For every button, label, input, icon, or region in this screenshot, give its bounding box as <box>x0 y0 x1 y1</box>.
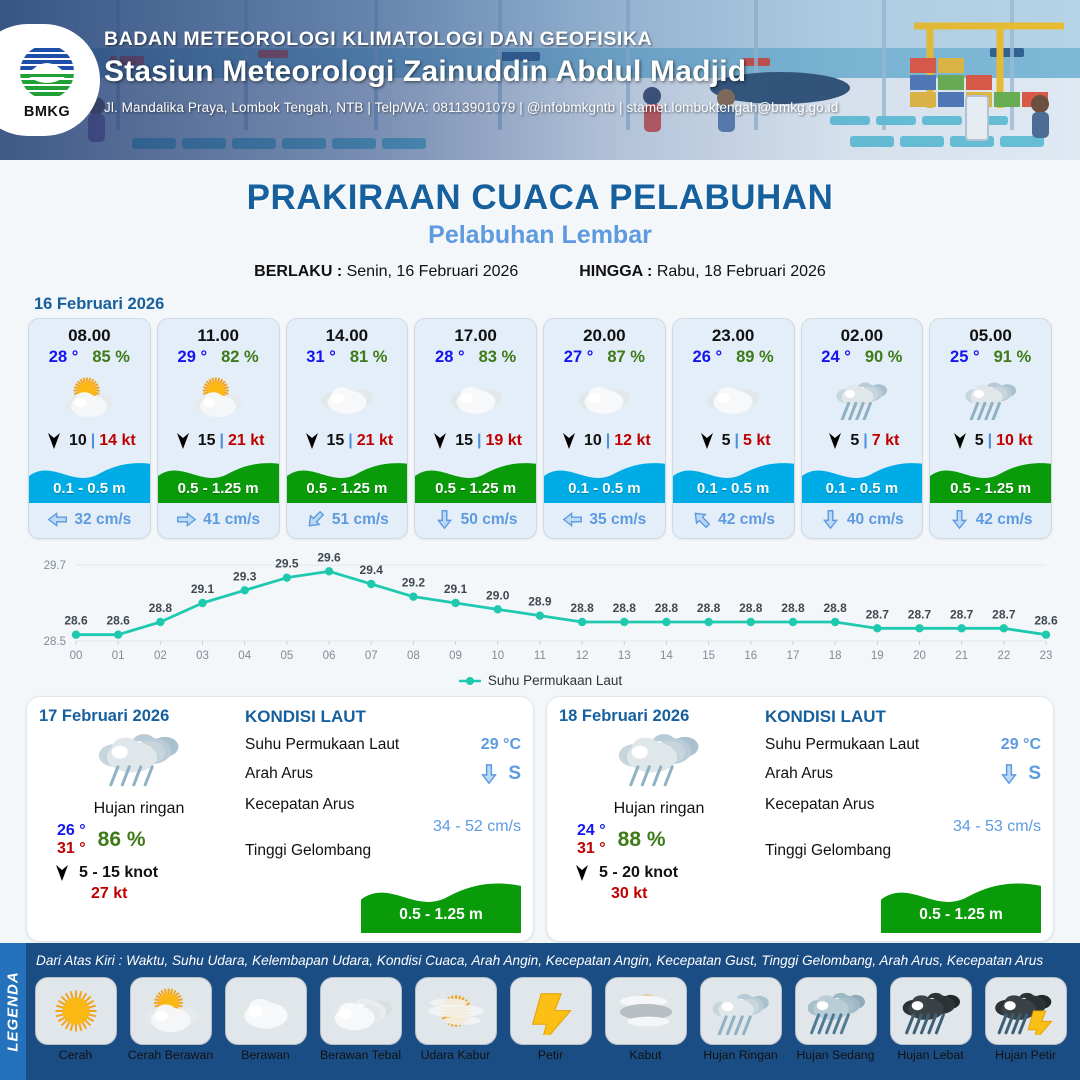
card-wind-speed: 15 <box>327 432 345 450</box>
sst-label: Suhu Permukaan Laut <box>245 736 399 754</box>
berawan-icon <box>448 376 504 420</box>
card-time: 02.00 <box>802 319 923 348</box>
daily-temp-min: 26 ° <box>57 822 86 840</box>
wind-direction-icon <box>949 432 971 450</box>
cerah-berawan-icon <box>190 376 246 420</box>
page-title: PRAKIRAAN CUACA PELABUHAN <box>0 178 1080 218</box>
svg-text:08: 08 <box>407 650 420 662</box>
card-weather-icon <box>158 369 279 427</box>
current-direction-icon <box>562 509 583 530</box>
card-time: 11.00 <box>158 319 279 348</box>
card-humidity: 91 % <box>994 348 1032 367</box>
card-wind: 10 | 14 kt <box>29 427 150 453</box>
card-temperature: 29 ° <box>178 348 208 367</box>
daily-wind-gust: 27 kt <box>39 885 239 903</box>
legend-item-icon <box>415 977 497 1045</box>
svg-text:28.8: 28.8 <box>570 601 594 615</box>
card-wave-height: 0.1 - 0.5 m <box>802 480 923 497</box>
daily-wind: 5 - 20 knot <box>559 864 759 882</box>
current-direction-icon <box>434 509 455 530</box>
valid-from-value: Senin, 16 Februari 2026 <box>347 263 519 280</box>
card-wave: 0.5 - 1.25 m <box>930 453 1051 503</box>
card-time: 17.00 <box>415 319 536 348</box>
card-wind-gust: 10 kt <box>996 432 1032 450</box>
svg-text:18: 18 <box>829 650 842 662</box>
card-wave-height: 0.5 - 1.25 m <box>287 480 408 497</box>
svg-text:29.1: 29.1 <box>191 582 215 596</box>
sst-chart-svg: 28.529.700010203040506070809101112131415… <box>18 553 1062 671</box>
card-wave-height: 0.5 - 1.25 m <box>158 480 279 497</box>
bmkg-logo-text: BMKG <box>24 104 70 120</box>
legend-item: Hujan Petir <box>980 977 1071 1062</box>
svg-text:20: 20 <box>913 650 926 662</box>
card-current: 41 cm/s <box>158 503 279 538</box>
svg-text:01: 01 <box>112 650 125 662</box>
card-wind: 5 | 5 kt <box>673 427 794 453</box>
kabut-icon <box>615 987 677 1035</box>
svg-text:02: 02 <box>154 650 167 662</box>
chart-legend-marker <box>458 676 482 686</box>
valid-until-value: Rabu, 18 Februari 2026 <box>657 263 826 280</box>
cerah-berawan-icon <box>140 987 202 1035</box>
card-weather-icon <box>544 369 665 427</box>
card-weather-icon <box>802 369 923 427</box>
svg-text:22: 22 <box>997 650 1010 662</box>
chart-legend: Suhu Permukaan Laut <box>0 673 1080 688</box>
card-time: 20.00 <box>544 319 665 348</box>
sst-value: 29 °C <box>1001 736 1041 754</box>
card-current-speed: 51 cm/s <box>332 511 389 529</box>
sea-conditions-title: KONDISI LAUT <box>245 707 521 727</box>
valid-until-label: HINGGA : <box>579 263 652 280</box>
legend-item: Cerah <box>30 977 121 1062</box>
card-wind: 15 | 19 kt <box>415 427 536 453</box>
agency-name: BADAN METEOROLOGI KLIMATOLOGI DAN GEOFIS… <box>104 28 1070 51</box>
daily-temp-max: 31 ° <box>57 840 86 858</box>
card-wind-gust: 21 kt <box>228 432 264 450</box>
legend-item: Hujan Lebat <box>885 977 976 1062</box>
legend-tab: LEGENDA <box>0 943 26 1080</box>
legend-item-icon <box>35 977 117 1045</box>
hourly-card[interactable]: 14.00 31 ° 81 % 15 | 21 kt 0.5 - 1.25 m <box>286 318 409 539</box>
daily-weather-icon <box>559 724 759 798</box>
svg-text:29.2: 29.2 <box>402 576 426 590</box>
hourly-card[interactable]: 02.00 24 ° 90 % 5 | 7 kt 0.1 - 0.5 m <box>801 318 924 539</box>
svg-text:28.8: 28.8 <box>149 601 173 615</box>
legend-strip: LEGENDA Dari Atas Kiri : Waktu, Suhu Uda… <box>0 943 1080 1080</box>
sst-chart: 28.529.700010203040506070809101112131415… <box>18 553 1062 671</box>
card-wave: 0.5 - 1.25 m <box>415 453 536 503</box>
card-weather-icon <box>930 369 1051 427</box>
daily-weather-icon <box>39 724 239 798</box>
svg-text:03: 03 <box>196 650 209 662</box>
card-time: 14.00 <box>287 319 408 348</box>
svg-text:29.3: 29.3 <box>233 569 257 583</box>
card-wind-speed: 5 <box>975 432 984 450</box>
daily-temps: 24 ° 31 ° 88 % <box>559 822 759 858</box>
card-wind-separator: | <box>91 432 95 450</box>
card-current-speed: 32 cm/s <box>74 511 131 529</box>
wind-direction-icon <box>696 432 718 450</box>
card-wave: 0.1 - 0.5 m <box>802 453 923 503</box>
card-time: 08.00 <box>29 319 150 348</box>
svg-text:17: 17 <box>787 650 800 662</box>
udara-kabur-icon <box>425 987 487 1035</box>
card-humidity: 90 % <box>865 348 903 367</box>
svg-text:12: 12 <box>576 650 589 662</box>
legend-note: Dari Atas Kiri : Waktu, Suhu Udara, Kele… <box>36 953 1043 968</box>
svg-text:28.8: 28.8 <box>781 601 805 615</box>
card-humidity: 81 % <box>350 348 388 367</box>
wind-direction-icon <box>558 432 580 450</box>
card-temperature: 26 ° <box>693 348 723 367</box>
card-current-speed: 35 cm/s <box>589 511 646 529</box>
svg-text:28.8: 28.8 <box>697 601 721 615</box>
card-wave: 0.1 - 0.5 m <box>544 453 665 503</box>
station-contact: Jl. Mandalika Praya, Lombok Tengah, NTB … <box>104 100 1070 115</box>
daily-temp-min: 24 ° <box>577 822 606 840</box>
card-wind: 15 | 21 kt <box>158 427 279 453</box>
card-wind-gust: 19 kt <box>486 432 522 450</box>
daily-condition: Hujan ringan <box>559 800 759 818</box>
legend-item-label: Hujan Ringan <box>703 1048 778 1062</box>
card-weather-icon <box>29 369 150 427</box>
sea-conditions-title: KONDISI LAUT <box>765 707 1041 727</box>
current-direction-icon <box>691 509 712 530</box>
svg-text:28.8: 28.8 <box>655 601 679 615</box>
svg-text:29.4: 29.4 <box>360 563 384 577</box>
hourly-card[interactable]: 20.00 27 ° 87 % 10 | 12 kt 0.1 - 0.5 m <box>543 318 666 539</box>
svg-text:29.7: 29.7 <box>44 560 66 572</box>
card-temperature: 31 ° <box>306 348 336 367</box>
title-block: PRAKIRAAN CUACA PELABUHAN Pelabuhan Lemb… <box>0 160 1080 281</box>
daily-sea-conditions: KONDISI LAUT Suhu Permukaan Laut 29 °C A… <box>759 707 1041 933</box>
card-wave: 0.5 - 1.25 m <box>287 453 408 503</box>
daily-wind: 5 - 15 knot <box>39 864 239 882</box>
card-humidity: 83 % <box>479 348 517 367</box>
card-wave-height: 0.1 - 0.5 m <box>544 480 665 497</box>
card-temperature: 24 ° <box>821 348 851 367</box>
berawan-icon <box>705 376 761 420</box>
berawan-icon <box>319 376 375 420</box>
cerah-icon <box>45 987 107 1035</box>
daily-wave: 0.5 - 1.25 m <box>361 871 521 933</box>
svg-text:28.6: 28.6 <box>1034 614 1058 628</box>
card-humidity: 89 % <box>736 348 774 367</box>
hujan-ringan-icon <box>834 376 890 420</box>
berawan-tebal-icon <box>330 987 392 1035</box>
card-wave: 0.1 - 0.5 m <box>29 453 150 503</box>
card-wind-separator: | <box>220 432 224 450</box>
page-subtitle: Pelabuhan Lembar <box>0 221 1080 250</box>
wave-height-label: Tinggi Gelombang <box>765 842 891 860</box>
legend-item-icon <box>795 977 877 1045</box>
petir-icon <box>520 987 582 1035</box>
wind-direction-icon <box>172 432 194 450</box>
card-humidity: 87 % <box>607 348 645 367</box>
svg-text:29.1: 29.1 <box>444 582 468 596</box>
card-wind-gust: 14 kt <box>99 432 135 450</box>
svg-text:28.7: 28.7 <box>950 607 974 621</box>
daily-forecast-row: 17 Februari 2026 Hujan ringan 26 ° 31 ° … <box>0 688 1080 942</box>
svg-text:19: 19 <box>871 650 884 662</box>
svg-text:11: 11 <box>534 650 546 662</box>
card-wind: 15 | 21 kt <box>287 427 408 453</box>
card-weather-icon <box>287 369 408 427</box>
svg-text:28.7: 28.7 <box>908 607 932 621</box>
card-wave: 0.5 - 1.25 m <box>158 453 279 503</box>
sst-value: 29 °C <box>481 736 521 754</box>
svg-text:29.0: 29.0 <box>486 588 510 602</box>
legend-item-label: Berawan <box>241 1048 290 1062</box>
card-wave-height: 0.5 - 1.25 m <box>415 480 536 497</box>
current-direction-icon <box>176 509 197 530</box>
card-wind-gust: 21 kt <box>357 432 393 450</box>
hourly-date-label: 16 Februari 2026 <box>34 295 1080 314</box>
card-wave-height: 0.5 - 1.25 m <box>930 480 1051 497</box>
current-direction-value: S <box>998 763 1041 785</box>
current-direction-icon <box>998 763 1020 785</box>
card-time: 05.00 <box>930 319 1051 348</box>
daily-left: 18 Februari 2026 Hujan ringan 24 ° 31 ° … <box>559 707 759 933</box>
legend-item-label: Udara Kabur <box>421 1048 491 1062</box>
card-wind-gust: 7 kt <box>872 432 900 450</box>
legend-item-label: Cerah <box>59 1048 93 1062</box>
hourly-card[interactable]: 17.00 28 ° 83 % 15 | 19 kt 0.5 - 1.25 m <box>414 318 537 539</box>
hujan-petir-icon <box>995 987 1057 1035</box>
card-time: 23.00 <box>673 319 794 348</box>
hourly-card[interactable]: 23.00 26 ° 89 % 5 | 5 kt 0.1 - 0.5 m <box>672 318 795 539</box>
bmkg-logo-icon <box>16 41 78 103</box>
legend-item-icon <box>225 977 307 1045</box>
hujan-ringan-icon <box>615 724 703 793</box>
card-wind-speed: 10 <box>584 432 602 450</box>
daily-wave: 0.5 - 1.25 m <box>881 871 1041 933</box>
validity-row: BERLAKU : Senin, 16 Februari 2026 HINGGA… <box>0 263 1080 281</box>
svg-text:28.7: 28.7 <box>992 607 1016 621</box>
card-current: 32 cm/s <box>29 503 150 538</box>
berawan-icon <box>235 987 297 1035</box>
svg-text:21: 21 <box>955 650 968 662</box>
hujan-ringan-icon <box>710 987 772 1035</box>
daily-wind-gust: 30 kt <box>559 885 759 903</box>
card-current-speed: 40 cm/s <box>847 511 904 529</box>
daily-wind-range: 5 - 20 knot <box>599 864 678 882</box>
chart-legend-label: Suhu Permukaan Laut <box>488 673 622 688</box>
hourly-card[interactable]: 08.00 28 ° 85 % 10 | 14 kt 0.1 - 0.5 m <box>28 318 151 539</box>
daily-forecast-card[interactable]: 17 Februari 2026 Hujan ringan 26 ° 31 ° … <box>26 696 534 942</box>
card-current: 51 cm/s <box>287 503 408 538</box>
card-current: 42 cm/s <box>930 503 1051 538</box>
legend-item: Cerah Berawan <box>125 977 216 1062</box>
svg-text:29.5: 29.5 <box>275 557 299 571</box>
card-wind-speed: 15 <box>198 432 216 450</box>
card-current: 50 cm/s <box>415 503 536 538</box>
hourly-forecast-row: 08.00 28 ° 85 % 10 | 14 kt 0.1 - 0.5 m <box>0 318 1080 539</box>
wind-direction-icon <box>571 864 593 882</box>
wave-height-label: Tinggi Gelombang <box>245 842 371 860</box>
station-name: Stasiun Meteorologi Zainuddin Abdul Madj… <box>104 55 1070 89</box>
svg-text:28.7: 28.7 <box>866 607 890 621</box>
card-wind-speed: 5 <box>722 432 731 450</box>
card-wind-separator: | <box>477 432 481 450</box>
svg-text:00: 00 <box>70 650 83 662</box>
svg-text:28.8: 28.8 <box>613 601 637 615</box>
legend-item: Berawan Tebal <box>315 977 406 1062</box>
svg-text:16: 16 <box>744 650 757 662</box>
legend-item-icon <box>700 977 782 1045</box>
wind-direction-icon <box>301 432 323 450</box>
card-weather-icon <box>415 369 536 427</box>
daily-humidity: 86 % <box>98 828 146 852</box>
daily-sea-conditions: KONDISI LAUT Suhu Permukaan Laut 29 °C A… <box>239 707 521 933</box>
svg-text:23: 23 <box>1040 650 1053 662</box>
current-direction-label: Arah Arus <box>765 765 833 783</box>
card-current: 40 cm/s <box>802 503 923 538</box>
daily-forecast-card[interactable]: 18 Februari 2026 Hujan ringan 24 ° 31 ° … <box>546 696 1054 942</box>
card-temperature: 28 ° <box>435 348 465 367</box>
daily-left: 17 Februari 2026 Hujan ringan 26 ° 31 ° … <box>39 707 239 933</box>
current-direction-value: S <box>478 763 521 785</box>
hourly-card[interactable]: 11.00 29 ° 82 % 15 | 21 kt 0.5 - 1.25 m <box>157 318 280 539</box>
card-wind: 5 | 10 kt <box>930 427 1051 453</box>
card-wind-gust: 12 kt <box>614 432 650 450</box>
card-wind-separator: | <box>863 432 867 450</box>
legend-item: Kabut <box>600 977 691 1062</box>
wave-height-value: 0.5 - 1.25 m <box>361 906 521 924</box>
svg-text:28.8: 28.8 <box>739 601 763 615</box>
hujan-ringan-icon <box>963 376 1019 420</box>
legend-item-icon <box>985 977 1067 1045</box>
legend-item: Petir <box>505 977 596 1062</box>
hourly-card[interactable]: 05.00 25 ° 91 % 5 | 10 kt 0.5 - 1.25 <box>929 318 1052 539</box>
svg-text:13: 13 <box>618 650 631 662</box>
card-current: 35 cm/s <box>544 503 665 538</box>
svg-text:14: 14 <box>660 650 673 662</box>
svg-text:05: 05 <box>280 650 293 662</box>
daily-temp-max: 31 ° <box>577 840 606 858</box>
svg-text:15: 15 <box>702 650 715 662</box>
card-humidity: 85 % <box>92 348 130 367</box>
current-direction-icon <box>305 509 326 530</box>
current-direction-icon <box>820 509 841 530</box>
hujan-ringan-icon <box>95 724 183 793</box>
current-speed-value: 34 - 52 cm/s <box>245 818 521 836</box>
wind-direction-icon <box>824 432 846 450</box>
current-speed-label: Kecepatan Arus <box>245 796 354 814</box>
card-current-speed: 50 cm/s <box>461 511 518 529</box>
legend-item-label: Cerah Berawan <box>128 1048 213 1062</box>
current-speed-label: Kecepatan Arus <box>765 796 874 814</box>
legend-item: Hujan Ringan <box>695 977 786 1062</box>
cerah-berawan-icon <box>61 376 117 420</box>
current-direction-icon <box>478 763 500 785</box>
svg-text:07: 07 <box>365 650 378 662</box>
daily-wind-range: 5 - 15 knot <box>79 864 158 882</box>
card-current-speed: 42 cm/s <box>718 511 775 529</box>
daily-humidity: 88 % <box>618 828 666 852</box>
legend-item: Udara Kabur <box>410 977 501 1062</box>
current-direction-icon <box>949 509 970 530</box>
svg-text:04: 04 <box>238 650 251 662</box>
daily-temps: 26 ° 31 ° 86 % <box>39 822 239 858</box>
svg-text:10: 10 <box>491 650 504 662</box>
hujan-sedang-icon <box>805 987 867 1035</box>
legend-items: Cerah Cerah Berawan Berawan Berawan T <box>30 977 1078 1062</box>
card-temperature: 28 ° <box>49 348 79 367</box>
legend-item-icon <box>890 977 972 1045</box>
card-humidity: 82 % <box>221 348 259 367</box>
legend-item-label: Berawan Tebal <box>320 1048 401 1062</box>
card-temperature: 27 ° <box>564 348 594 367</box>
hujan-lebat-icon <box>900 987 962 1035</box>
card-temperature: 25 ° <box>950 348 980 367</box>
svg-text:29.6: 29.6 <box>317 553 341 564</box>
legend-item: Hujan Sedang <box>790 977 881 1062</box>
card-wind-separator: | <box>348 432 352 450</box>
svg-text:28.6: 28.6 <box>64 614 88 628</box>
card-wind: 5 | 7 kt <box>802 427 923 453</box>
card-wave: 0.1 - 0.5 m <box>673 453 794 503</box>
wind-direction-icon <box>429 432 451 450</box>
current-speed-value: 34 - 53 cm/s <box>765 818 1041 836</box>
legend-tab-label: LEGENDA <box>5 971 22 1051</box>
legend-item-label: Kabut <box>629 1048 661 1062</box>
daily-condition: Hujan ringan <box>39 800 239 818</box>
legend-item-label: Hujan Sedang <box>797 1048 875 1062</box>
svg-text:28.8: 28.8 <box>823 601 847 615</box>
card-wave-height: 0.1 - 0.5 m <box>29 480 150 497</box>
legend-item-label: Hujan Lebat <box>897 1048 963 1062</box>
current-direction-icon <box>47 509 68 530</box>
card-wind: 10 | 12 kt <box>544 427 665 453</box>
page-header: BMKG BADAN METEOROLOGI KLIMATOLOGI DAN G… <box>0 0 1080 160</box>
legend-item-label: Petir <box>538 1048 563 1062</box>
wave-height-value: 0.5 - 1.25 m <box>881 906 1041 924</box>
legend-item-icon <box>605 977 687 1045</box>
legend-item-icon <box>320 977 402 1045</box>
card-current-speed: 42 cm/s <box>976 511 1033 529</box>
sst-label: Suhu Permukaan Laut <box>765 736 919 754</box>
wind-direction-icon <box>51 864 73 882</box>
card-weather-icon <box>673 369 794 427</box>
card-wind-speed: 5 <box>850 432 859 450</box>
card-current-speed: 41 cm/s <box>203 511 260 529</box>
svg-text:28.5: 28.5 <box>44 636 66 648</box>
berawan-icon <box>576 376 632 420</box>
card-wind-gust: 5 kt <box>743 432 771 450</box>
wind-direction-icon <box>43 432 65 450</box>
card-wave-height: 0.1 - 0.5 m <box>673 480 794 497</box>
legend-item-icon <box>510 977 592 1045</box>
svg-text:09: 09 <box>449 650 462 662</box>
current-direction-label: Arah Arus <box>245 765 313 783</box>
card-wind-separator: | <box>735 432 739 450</box>
card-wind-separator: | <box>606 432 610 450</box>
svg-text:06: 06 <box>323 650 336 662</box>
legend-item-label: Hujan Petir <box>995 1048 1056 1062</box>
card-wind-speed: 10 <box>69 432 87 450</box>
legend-item-icon <box>130 977 212 1045</box>
card-wind-separator: | <box>988 432 992 450</box>
card-current: 42 cm/s <box>673 503 794 538</box>
legend-item: Berawan <box>220 977 311 1062</box>
svg-text:28.6: 28.6 <box>106 614 130 628</box>
valid-from-label: BERLAKU : <box>254 263 342 280</box>
svg-text:28.9: 28.9 <box>528 595 552 609</box>
card-wind-speed: 15 <box>455 432 473 450</box>
